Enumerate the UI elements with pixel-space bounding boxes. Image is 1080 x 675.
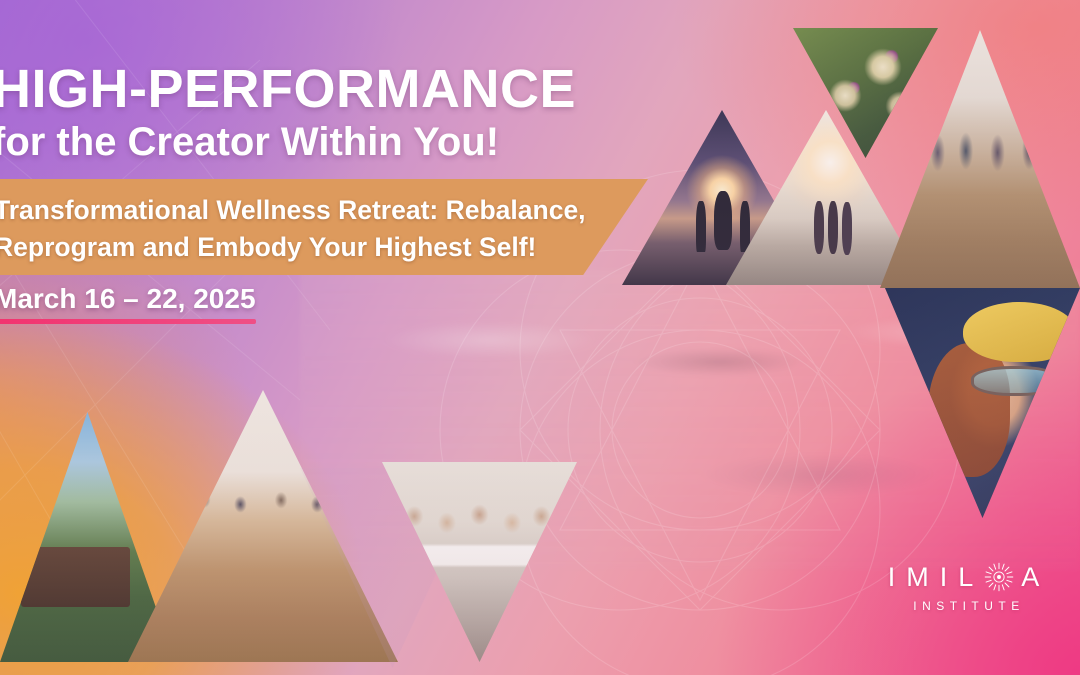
sunburst-icon (984, 562, 1014, 592)
promo-banner: HIGH-PERFORMANCE for the Creator Within … (0, 0, 1080, 675)
subtitle-line-1: Transformational Wellness Retreat: Rebal… (0, 192, 614, 229)
headline: HIGH-PERFORMANCE (0, 62, 632, 116)
subtitle-text: Transformational Wellness Retreat: Rebal… (0, 192, 614, 265)
subheadline: for the Creator Within You! (0, 122, 632, 162)
date-underline (0, 319, 256, 324)
logo-wordmark-after: A (1021, 564, 1050, 591)
subtitle-line-2: Reprogram and Embody Your Highest Self! (0, 229, 614, 266)
logo-wordmark-before: IMIL (888, 564, 985, 591)
event-date: March 16 – 22, 2025 (0, 283, 256, 315)
imiloa-logo: IMIL A INSTITUTE (884, 562, 1054, 613)
logo-subtitle: INSTITUTE (884, 599, 1054, 613)
